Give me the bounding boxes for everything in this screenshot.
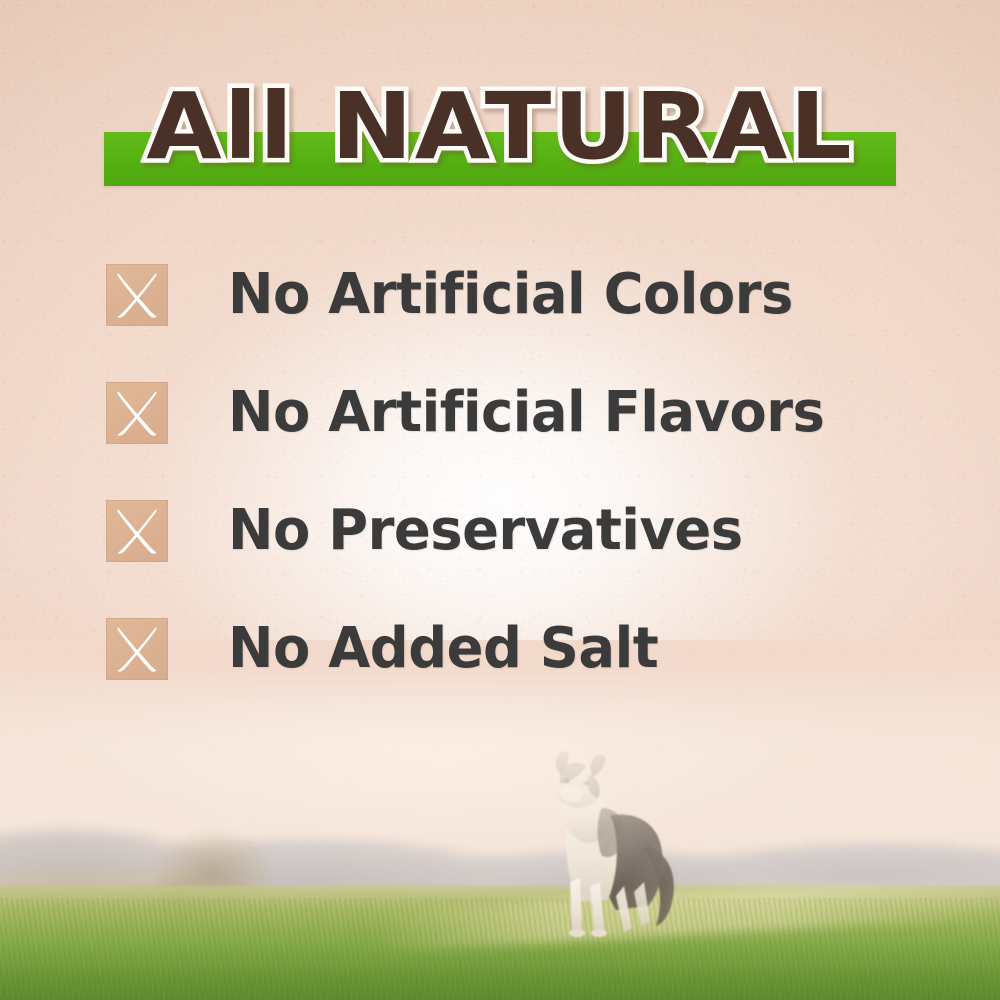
claim-label: No Artificial Flavors <box>228 382 824 444</box>
x-mark-icon <box>106 500 168 562</box>
claim-item-no-preservatives: No Preservatives <box>106 500 906 562</box>
claim-item-no-added-salt: No Added Salt <box>106 618 906 680</box>
claim-label: No Preservatives <box>228 500 743 562</box>
claim-label: No Artificial Colors <box>228 264 793 326</box>
claims-list: No Artificial Colors No Artificial Flavo… <box>106 264 906 680</box>
x-mark-icon <box>106 618 168 680</box>
page-title: All NATURAL <box>0 68 1000 186</box>
x-mark-icon <box>106 264 168 326</box>
claim-item-no-artificial-flavors: No Artificial Flavors <box>106 382 906 444</box>
x-mark-icon <box>106 382 168 444</box>
photo-grass-texture <box>0 898 1000 1000</box>
headline-area: All NATURAL <box>0 68 1000 198</box>
border-collie-dog <box>520 750 700 945</box>
claim-item-no-artificial-colors: No Artificial Colors <box>106 264 906 326</box>
product-feature-panel: All NATURAL No Artificial Colors No Arti… <box>0 0 1000 1000</box>
landscape-photo <box>0 640 1000 1000</box>
claim-label: No Added Salt <box>228 618 658 680</box>
